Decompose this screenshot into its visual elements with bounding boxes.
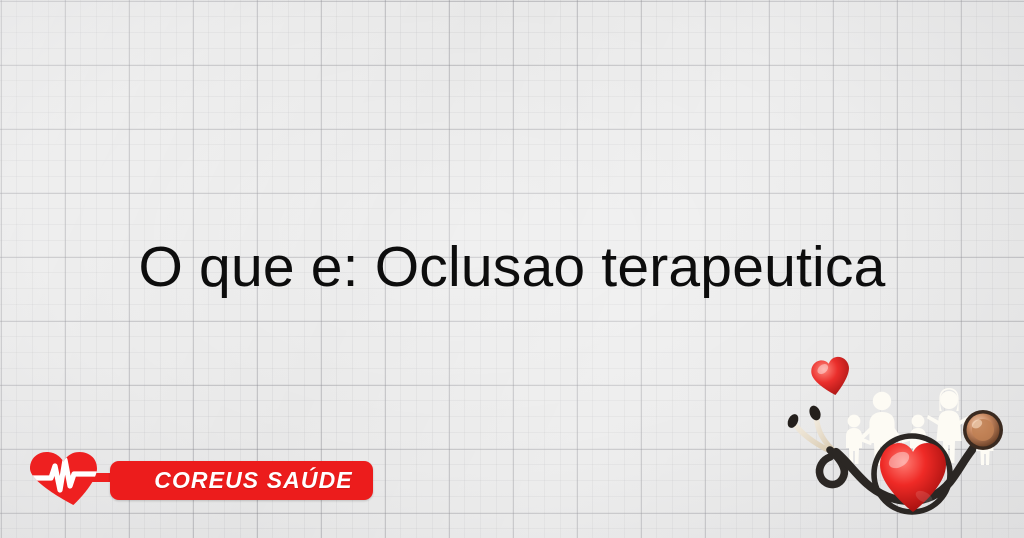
brand-name-label: COREUS SAÚDE xyxy=(110,461,373,500)
brand-logo[interactable]: COREUS SAÚDE xyxy=(28,450,358,508)
medical-illustration xyxy=(782,356,1024,538)
brand-name-pill: COREUS SAÚDE xyxy=(110,461,373,500)
slide-canvas: O que e: Oclusao terapeutica xyxy=(0,0,1024,538)
heart-ecg-icon xyxy=(28,450,120,506)
page-title: O que e: Oclusao terapeutica xyxy=(0,236,1024,298)
small-heart-icon xyxy=(809,356,854,399)
